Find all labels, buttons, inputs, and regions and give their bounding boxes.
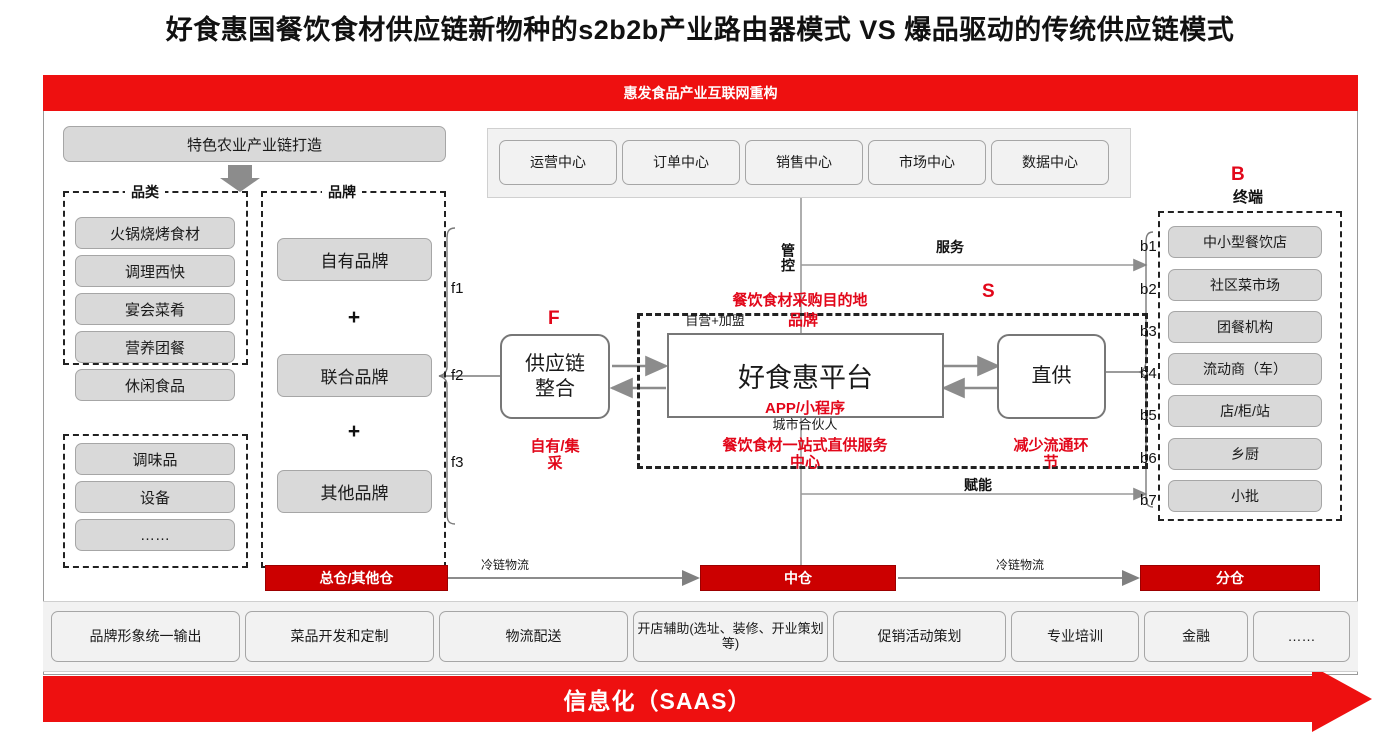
terminal-item-b7[interactable]: 小批 — [1168, 480, 1322, 512]
category-item[interactable]: 火锅烧烤食材 — [75, 217, 235, 249]
supply-chain-line1: 供应链 — [525, 353, 585, 375]
plus-sign: + — [337, 421, 371, 443]
platform-purchase-destination: 餐饮食材采购目的地 — [700, 292, 900, 309]
category-item-secondary[interactable]: 调味品 — [75, 443, 235, 475]
direct-supply-note: 减少流通环 节 — [988, 437, 1114, 472]
platform-self-join-label: 自营+加盟 — [660, 314, 770, 329]
platform-app-label: APP/小程序 — [735, 400, 875, 417]
brand-item[interactable]: 自有品牌 — [277, 238, 432, 281]
category-item[interactable]: 调理西快 — [75, 255, 235, 287]
center-item-sales[interactable]: 销售中心 — [745, 140, 863, 185]
service-item[interactable]: 品牌形象统一输出 — [51, 611, 240, 662]
supply-chain-label: 供应链 整合 — [525, 352, 585, 402]
service-label: 服务 — [920, 240, 980, 255]
service-item[interactable]: 金融 — [1144, 611, 1248, 662]
terminal-code-b2: b2 — [1140, 281, 1157, 298]
service-item[interactable]: 菜品开发和定制 — [245, 611, 434, 662]
terminal-item-b6[interactable]: 乡厨 — [1168, 438, 1322, 470]
f3-label: f3 — [451, 454, 464, 471]
cold-chain-label-right: 冷链物流 — [975, 556, 1065, 573]
supply-note-line2: 采 — [547, 455, 562, 472]
control-label: 管控 — [771, 243, 795, 273]
platform-city-partner: 城市合伙人 — [745, 418, 865, 433]
direct-note-line2: 节 — [1043, 454, 1058, 471]
platform-note-line1: 餐饮食材一站式直供服务 — [722, 437, 887, 454]
b-letter: B — [1231, 164, 1245, 186]
warehouse-branch[interactable]: 分仓 — [1140, 565, 1320, 591]
banner-header: 惠发食品产业互联网重构 — [43, 75, 1358, 111]
service-item[interactable]: 物流配送 — [439, 611, 628, 662]
category-item[interactable]: 宴会菜肴 — [75, 293, 235, 325]
supply-chain-box[interactable]: 供应链 整合 — [500, 334, 610, 419]
cold-chain-label-left: 冷链物流 — [460, 556, 550, 573]
brand-item[interactable]: 联合品牌 — [277, 354, 432, 397]
terminal-group-label: 终端 — [1208, 190, 1288, 206]
f2-label: f2 — [451, 367, 464, 384]
category-item[interactable]: 休闲食品 — [75, 369, 235, 401]
brand-item[interactable]: 其他品牌 — [277, 470, 432, 513]
category-group-label: 品类 — [125, 182, 165, 202]
platform-note-line2: 中心 — [790, 454, 820, 471]
service-item[interactable]: 开店辅助(选址、装修、开业策划等) — [633, 611, 828, 662]
warehouse-main[interactable]: 总仓/其他仓 — [265, 565, 448, 591]
f1-label: f1 — [451, 280, 464, 297]
center-item-operations[interactable]: 运营中心 — [499, 140, 617, 185]
center-item-market[interactable]: 市场中心 — [868, 140, 986, 185]
f-letter: F — [548, 308, 560, 330]
terminal-code-b3: b3 — [1140, 323, 1157, 340]
warehouse-mid[interactable]: 中仓 — [700, 565, 896, 591]
service-item[interactable]: 专业培训 — [1011, 611, 1139, 662]
center-item-data[interactable]: 数据中心 — [991, 140, 1109, 185]
supply-chain-note: 自有/集 采 — [500, 438, 610, 473]
terminal-item-b5[interactable]: 店/柜/站 — [1168, 395, 1322, 427]
category-item-secondary[interactable]: 设备 — [75, 481, 235, 513]
terminal-item-b3[interactable]: 团餐机构 — [1168, 311, 1322, 343]
platform-service-note: 餐饮食材一站式直供服务 中心 — [690, 437, 920, 472]
terminal-item-b4[interactable]: 流动商（车） — [1168, 353, 1322, 385]
page-title: 好食惠国餐饮食材供应链新物种的s2b2b产业路由器模式 VS 爆品驱动的传统供应… — [0, 8, 1400, 47]
terminal-item-b1[interactable]: 中小型餐饮店 — [1168, 226, 1322, 258]
terminal-item-b2[interactable]: 社区菜市场 — [1168, 269, 1322, 301]
terminal-code-b5: b5 — [1140, 407, 1157, 424]
direct-supply-box[interactable]: 直供 — [997, 334, 1106, 419]
platform-brand-label: 品牌 — [768, 312, 838, 329]
empower-label: 赋能 — [948, 478, 1008, 493]
terminal-code-b7: b7 — [1140, 492, 1157, 509]
terminal-code-b6: b6 — [1140, 450, 1157, 467]
supply-chain-line2: 整合 — [535, 378, 575, 400]
service-item[interactable]: 促销活动策划 — [833, 611, 1006, 662]
agri-chain-box[interactable]: 特色农业产业链打造 — [63, 126, 446, 162]
supply-note-line1: 自有/集 — [530, 438, 579, 455]
terminal-code-b4: b4 — [1140, 365, 1157, 382]
s-letter: S — [982, 281, 995, 303]
center-item-orders[interactable]: 订单中心 — [622, 140, 740, 185]
category-item[interactable]: 营养团餐 — [75, 331, 235, 363]
saas-footer-label: 信息化（SAAS） — [0, 672, 1315, 726]
direct-note-line1: 减少流通环 — [1013, 437, 1088, 454]
service-item[interactable]: …… — [1253, 611, 1350, 662]
category-item-secondary[interactable]: …… — [75, 519, 235, 551]
terminal-code-b1: b1 — [1140, 238, 1157, 255]
plus-sign: + — [337, 307, 371, 329]
brand-group-label: 品牌 — [322, 182, 362, 202]
